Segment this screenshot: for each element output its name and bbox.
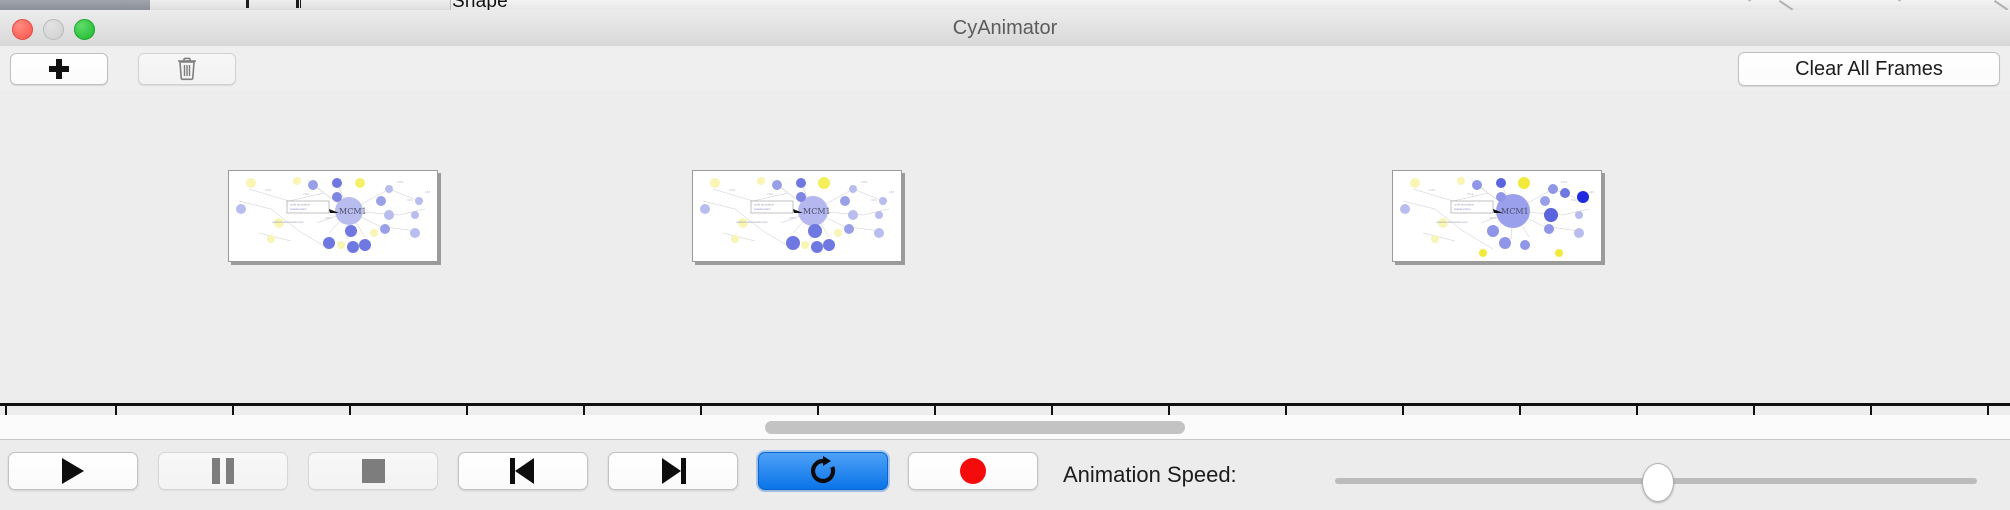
- skip-to-end-icon: [660, 458, 686, 484]
- network-graph-preview: YLR1YKL2 STE1AR3 SWI4HO1 node annotation…: [1393, 171, 1601, 261]
- frame-thumbnail[interactable]: YLR1YKL2 STE1AR3 SWI4HO1 node annotation…: [228, 170, 438, 262]
- animation-speed-label: Animation Speed:: [1063, 462, 1237, 488]
- bg-tick-glyph: [246, 0, 249, 8]
- svg-text:node annotation: node annotation: [1454, 203, 1475, 207]
- skip-to-start-button[interactable]: [458, 452, 588, 490]
- svg-text:SWI4: SWI4: [789, 216, 796, 220]
- svg-text:MCM1: MCM1: [803, 207, 831, 216]
- svg-text:network description text: network description text: [1436, 220, 1468, 224]
- play-icon: [62, 458, 84, 484]
- svg-text:node annotation: node annotation: [754, 203, 775, 207]
- delete-frame-button[interactable]: [138, 53, 236, 85]
- svg-text:YLR1: YLR1: [265, 188, 272, 192]
- timeline-panel[interactable]: YLR1YKL2 STE1AR3 SWI4HO1 node annotation…: [0, 90, 2010, 416]
- svg-text:SWI4: SWI4: [325, 216, 332, 220]
- network-graph-preview: YLR1YKL2 STE1AR3 SWI4HO1 node annotation…: [229, 171, 437, 261]
- bg-segment: [150, 0, 231, 10]
- skip-to-start-icon: [510, 458, 536, 484]
- toolbar: Clear All Frames: [0, 46, 2010, 91]
- svg-text:HO1: HO1: [407, 198, 413, 202]
- timeline-axis: [0, 403, 2010, 406]
- trash-icon: [176, 57, 198, 81]
- stop-icon: [362, 459, 385, 483]
- svg-text:STE1: STE1: [397, 180, 404, 184]
- bg-dark-segment: [0, 0, 150, 10]
- scrollbar-thumb[interactable]: [765, 421, 1185, 434]
- svg-text:AR3: AR3: [1589, 190, 1595, 194]
- pause-button[interactable]: [158, 452, 288, 490]
- pause-icon: [212, 458, 234, 484]
- svg-text:selected item: selected item: [290, 207, 307, 211]
- frame-thumbnail[interactable]: YLR1YKL2 STE1AR3 SWI4HO1 node annotation…: [692, 170, 902, 262]
- skip-to-end-button[interactable]: [608, 452, 738, 490]
- horizontal-scrollbar[interactable]: [0, 415, 2010, 440]
- plus-icon: [49, 59, 69, 79]
- network-graph-preview: YLR1YKL2 STE1AR3 SWI4HO1 node annotation…: [693, 171, 901, 261]
- window-title: CyAnimator: [0, 10, 2010, 46]
- svg-text:MCM1: MCM1: [339, 207, 367, 216]
- svg-text:STE1: STE1: [861, 180, 868, 184]
- svg-text:AR3: AR3: [425, 190, 431, 194]
- svg-text:network description text: network description text: [272, 220, 304, 224]
- frame-thumbnail[interactable]: YLR1YKL2 STE1AR3 SWI4HO1 node annotation…: [1392, 170, 1602, 262]
- svg-text:node annotation: node annotation: [290, 203, 311, 207]
- svg-text:YLR1: YLR1: [1429, 188, 1436, 192]
- transport-bar: Animation Speed:: [0, 440, 2010, 510]
- loop-button[interactable]: [758, 452, 888, 490]
- svg-text:selected item: selected item: [1454, 207, 1471, 211]
- record-icon: [960, 458, 986, 484]
- bg-tick-glyph: [296, 0, 299, 8]
- stop-button[interactable]: [308, 452, 438, 490]
- svg-text:AR3: AR3: [889, 190, 895, 194]
- svg-text:network description text: network description text: [736, 220, 768, 224]
- animation-speed-slider-thumb[interactable]: [1642, 463, 1674, 502]
- bg-tick-glyph: [300, 0, 301, 8]
- svg-text:MCM1: MCM1: [1501, 207, 1529, 216]
- svg-text:STE1: STE1: [1561, 180, 1568, 184]
- svg-text:YKL2: YKL2: [767, 192, 774, 196]
- svg-text:SWI4: SWI4: [1489, 216, 1496, 220]
- clear-all-frames-button[interactable]: Clear All Frames: [1738, 52, 2000, 86]
- play-button[interactable]: [8, 452, 138, 490]
- record-button[interactable]: [908, 452, 1038, 490]
- svg-text:HO1: HO1: [1571, 198, 1577, 202]
- bg-segment: [230, 0, 379, 10]
- bg-segment: [378, 0, 451, 10]
- svg-text:YKL2: YKL2: [303, 192, 310, 196]
- bg-arrow-icon: [1898, 0, 1918, 10]
- window-titlebar: CyAnimator: [0, 10, 2010, 47]
- svg-text:YLR1: YLR1: [729, 188, 736, 192]
- bg-arrow-icon: [1748, 0, 1768, 10]
- svg-text:YKL2: YKL2: [1467, 192, 1474, 196]
- svg-text:selected item: selected item: [754, 207, 771, 211]
- svg-text:HO1: HO1: [871, 198, 877, 202]
- add-frame-button[interactable]: [10, 53, 108, 85]
- loop-icon: [807, 456, 839, 486]
